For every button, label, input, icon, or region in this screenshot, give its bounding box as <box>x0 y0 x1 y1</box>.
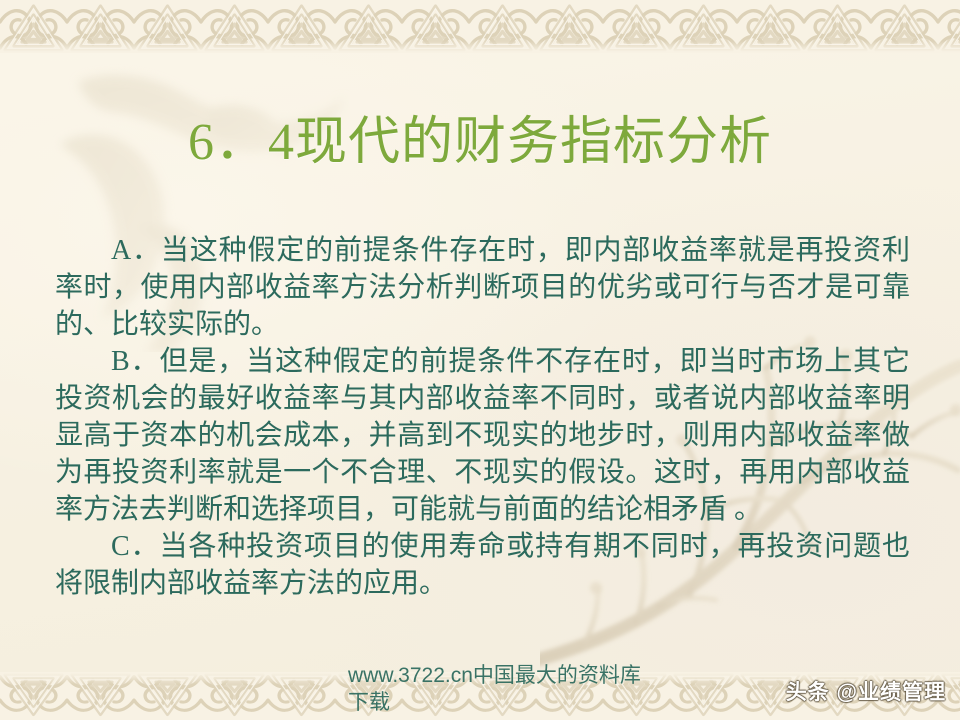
slide-body: A．当这种假定的前提条件存在时，即内部收益率就是再投资利率时，使用内部收益率方法… <box>55 232 910 602</box>
footer-url-line1: www.3722.cn中国最大的资料库 <box>348 664 641 687</box>
body-paragraph-c: C．当各种投资项目的使用寿命或持有期不同时，再投资问题也将限制内部收益率方法的应… <box>55 528 910 602</box>
channel-watermark: 头条 @业绩管理 <box>786 680 946 706</box>
presentation-slide: 6．4现代的财务指标分析 A．当这种假定的前提条件存在时，即内部收益率就是再投资… <box>0 0 960 720</box>
body-paragraph-a: A．当这种假定的前提条件存在时，即内部收益率就是再投资利率时，使用内部收益率方法… <box>55 232 910 343</box>
footer-url-line2: 下载 <box>348 691 390 714</box>
body-paragraph-b: B．但是，当这种假定的前提条件不存在时，即当时市场上其它投资机会的最好收益率与其… <box>55 343 910 528</box>
slide-title: 6．4现代的财务指标分析 <box>0 112 960 174</box>
